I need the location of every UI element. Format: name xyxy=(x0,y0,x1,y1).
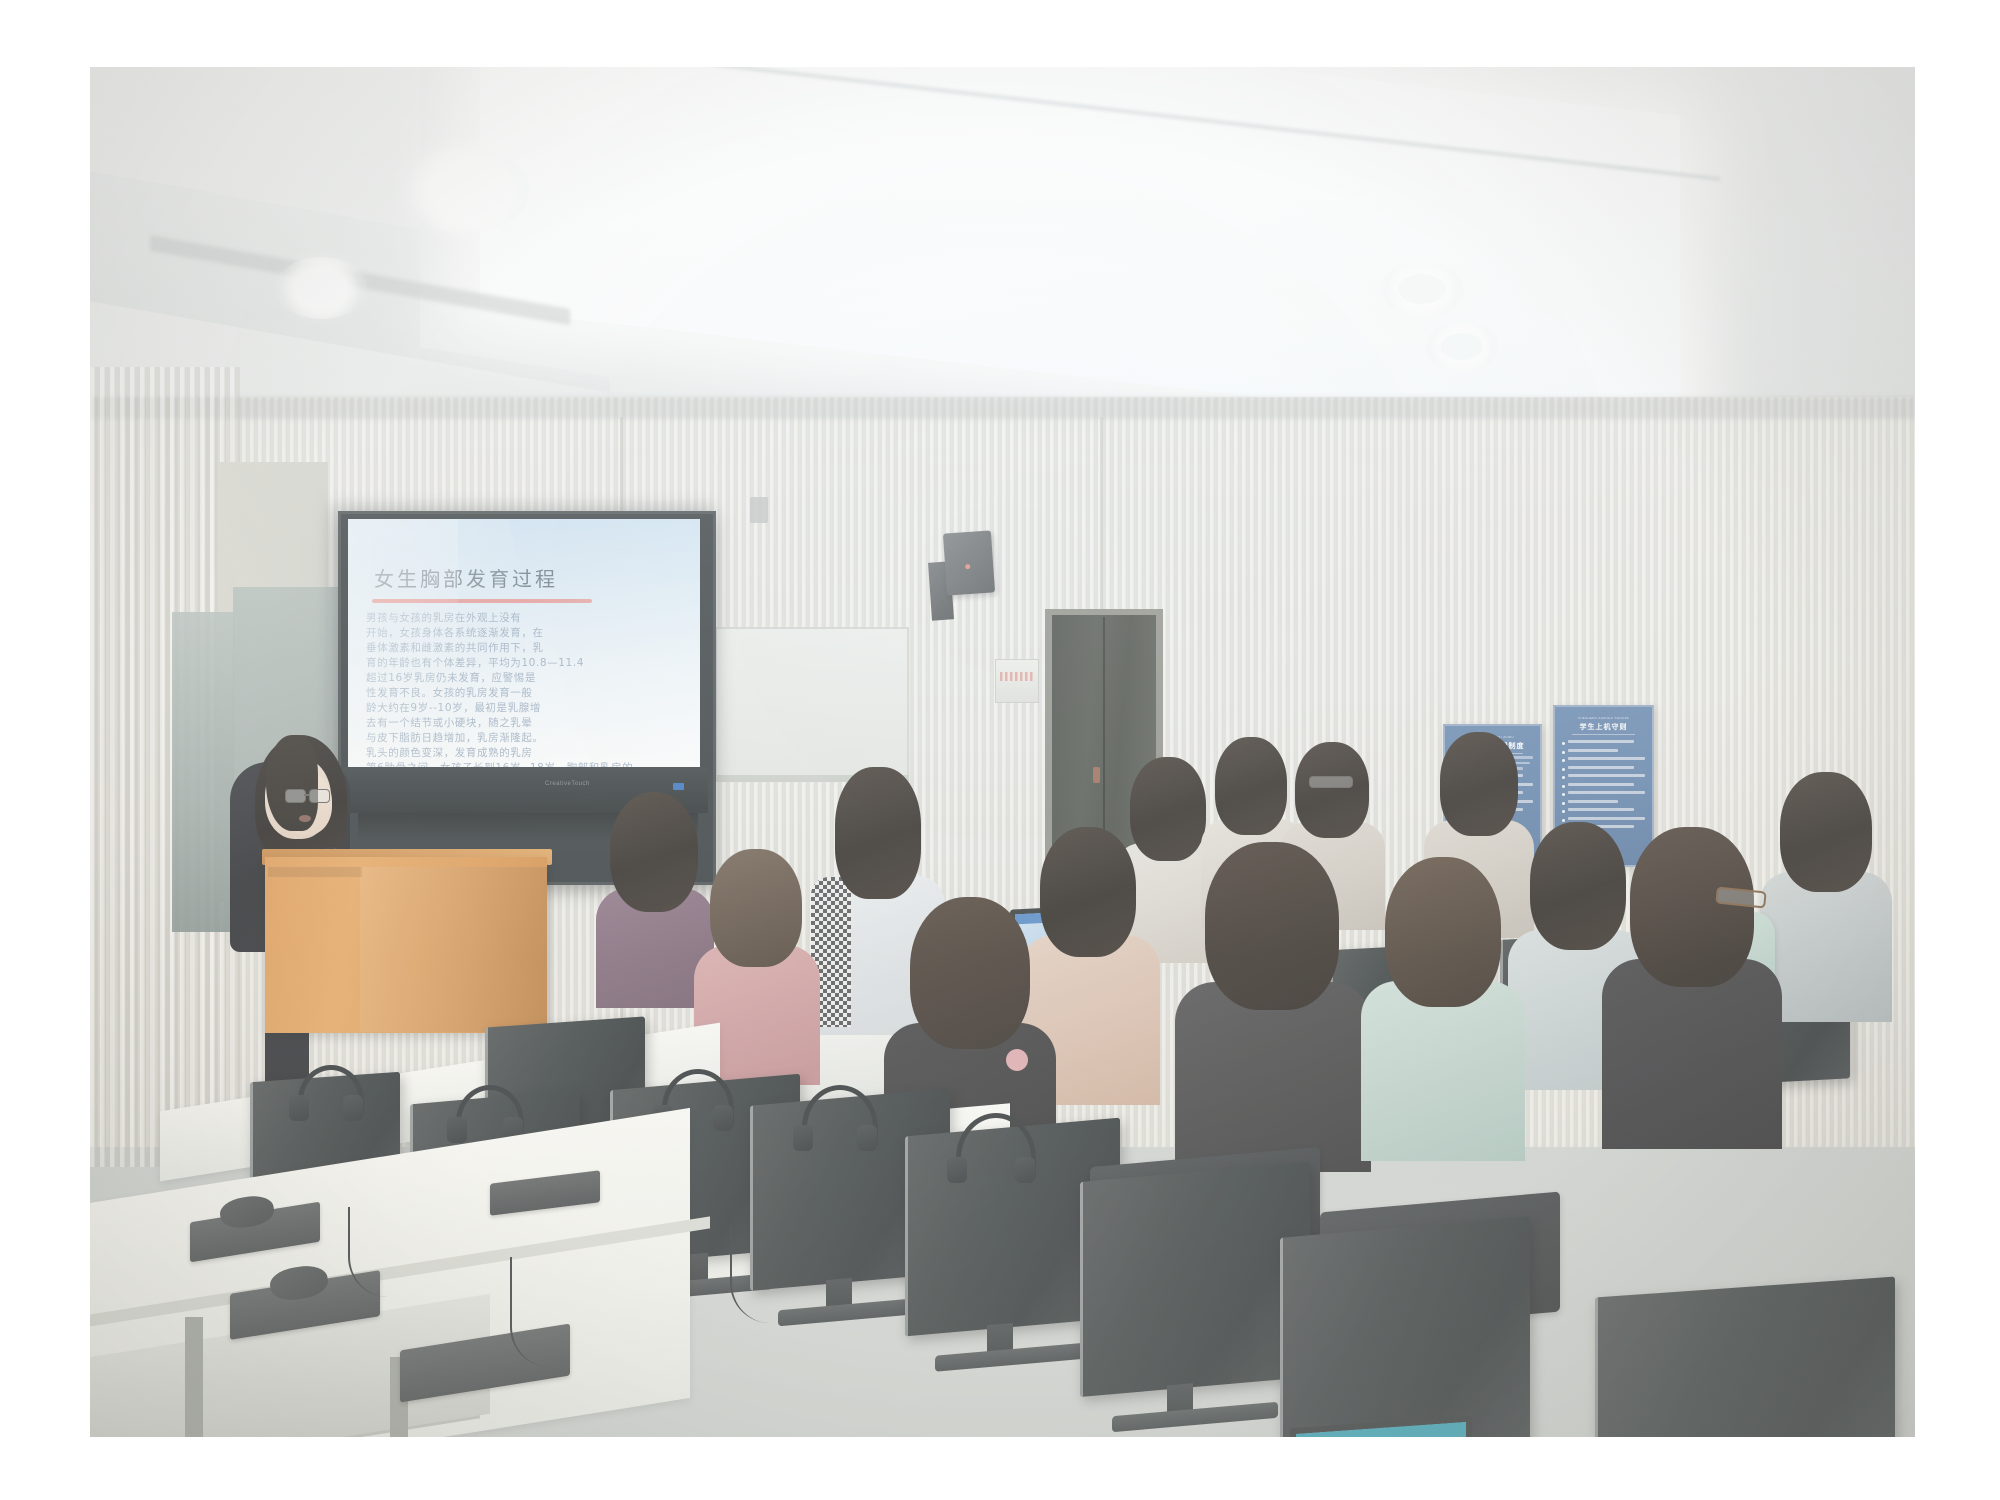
poster-subtitle: XUESHENG SHANGJI SHOUZE xyxy=(1555,716,1652,720)
wall-speaker-icon xyxy=(943,530,995,595)
wall-top-shadow xyxy=(90,397,1915,419)
student xyxy=(1440,732,1518,836)
slide-line: 龄大约在9岁--10岁，最初是乳腺增 xyxy=(366,701,692,716)
photo-frame: JIXIANSHI GUANLI ZHIDU 机房安全管理制度 ◆ XUESHE… xyxy=(0,0,2000,1500)
cable xyxy=(730,1227,778,1323)
slide-line: 乳头的颜色变深，发育成熟的乳房 xyxy=(366,746,692,761)
slide-line: 男孩与女孩的乳房在外观上没有 xyxy=(366,611,692,626)
slide-line: 育的年龄也有个体差异，平均为10.8—11.4 xyxy=(366,656,692,671)
poster-bullet xyxy=(1562,817,1645,822)
poster-bullet xyxy=(1562,749,1645,754)
student xyxy=(1630,827,1754,987)
poster-bullet xyxy=(1562,808,1645,813)
poster-bullet xyxy=(1562,766,1645,771)
student xyxy=(1215,737,1287,835)
podium-lip xyxy=(268,867,362,877)
ceiling-downlight-icon xyxy=(1380,262,1464,318)
slide-body-text: 男孩与女孩的乳房在外观上没有 开始，女孩身体各系统逐渐发育，在 垂体激素和雌激素… xyxy=(366,611,692,769)
presenter-glasses-icon xyxy=(285,789,331,801)
slide-title-rule xyxy=(372,599,592,603)
computer-monitor xyxy=(1280,1216,1530,1437)
student xyxy=(910,897,1030,1049)
desk-leg xyxy=(185,1317,203,1437)
poster-bullet-list xyxy=(1562,740,1645,834)
classroom-photograph: JIXIANSHI GUANLI ZHIDU 机房安全管理制度 ◆ XUESHE… xyxy=(90,67,1915,1437)
headset-icon xyxy=(956,1113,1026,1173)
slide-line: 去有一个结节或小硬块，随之乳晕 xyxy=(366,716,692,731)
student xyxy=(1385,857,1501,1007)
student-glasses-icon xyxy=(1309,776,1353,788)
slide-line: 开始，女孩身体各系统逐渐发育，在 xyxy=(366,626,692,641)
student xyxy=(610,792,698,912)
wall-glass-panel xyxy=(172,612,234,932)
poster-bullet xyxy=(1562,740,1645,745)
poster-bullet xyxy=(1562,774,1645,779)
ceiling-downlight-icon xyxy=(275,257,367,319)
poster-title: 学生上机守则 xyxy=(1555,722,1652,732)
student xyxy=(1130,757,1206,861)
student xyxy=(1530,822,1626,950)
display-power-led-icon xyxy=(673,783,684,790)
slide-line: 垂体激素和雌激素的共同作用下，乳 xyxy=(366,641,692,656)
headset-icon xyxy=(456,1085,514,1133)
student xyxy=(1040,827,1136,957)
display-brand-label: CreativeTouch xyxy=(545,781,590,787)
display-screen[interactable]: 女生胸部发育过程 男孩与女孩的乳房在外观上没有 开始，女孩身体各系统逐渐发育，在… xyxy=(348,519,700,769)
door-handle-icon[interactable] xyxy=(1093,767,1100,783)
student xyxy=(1295,742,1369,838)
podium-side-panel xyxy=(360,867,550,1032)
speaker-led-icon xyxy=(965,564,970,569)
slide-line: 性发育不良。女孩的乳房发育一般 xyxy=(366,686,692,701)
poster-bullet xyxy=(1562,800,1645,805)
headset-icon xyxy=(802,1085,868,1141)
electrical-panel xyxy=(995,659,1039,703)
poster-divider xyxy=(1572,734,1634,735)
ceiling-downlight-icon xyxy=(400,147,530,233)
whiteboard xyxy=(715,627,909,781)
computer-monitor xyxy=(1080,1162,1310,1397)
presentation-slide: 女生胸部发育过程 男孩与女孩的乳房在外观上没有 开始，女孩身体各系统逐渐发育，在… xyxy=(348,519,700,769)
student xyxy=(1780,772,1872,892)
slide-line: 与皮下脂肪日趋增加，乳房渐隆起。 xyxy=(366,731,692,746)
computer-monitor xyxy=(1595,1277,1895,1437)
ceiling-downlight-icon xyxy=(1425,322,1499,372)
wall-sensor-icon xyxy=(750,497,768,523)
slide-line: 超过16岁乳房仍未发育，应警惕是 xyxy=(366,671,692,686)
hair-tie-icon xyxy=(1006,1049,1028,1071)
slide-title: 女生胸部发育过程 xyxy=(374,563,558,592)
poster-bullet xyxy=(1562,791,1645,796)
poster-bullet xyxy=(1562,783,1645,788)
poster-bullet xyxy=(1562,757,1645,762)
student xyxy=(1205,842,1339,1010)
student xyxy=(710,849,802,967)
headset-icon xyxy=(298,1065,354,1111)
cable xyxy=(510,1257,562,1367)
student-checkered-jacket xyxy=(835,767,921,899)
presenter-mouth xyxy=(299,815,311,822)
